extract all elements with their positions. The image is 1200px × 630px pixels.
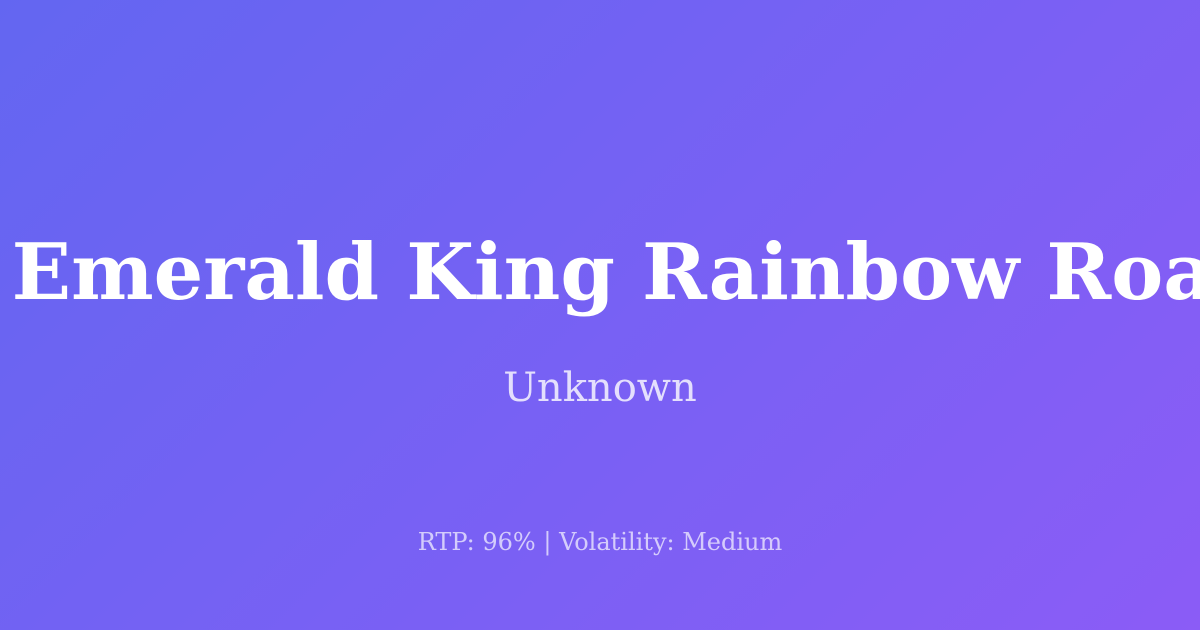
title-line: 1F B0 Emerald King Rainbow Road: [0, 180, 1200, 366]
subtitle: Unknown: [0, 364, 1200, 412]
og-social-card: 1F B0 Emerald King Rainbow Road Unknown …: [0, 0, 1200, 630]
game-stats-line: RTP: 96% | Volatility: Medium: [0, 527, 1200, 557]
page-title: Emerald King Rainbow Road: [12, 232, 1200, 314]
